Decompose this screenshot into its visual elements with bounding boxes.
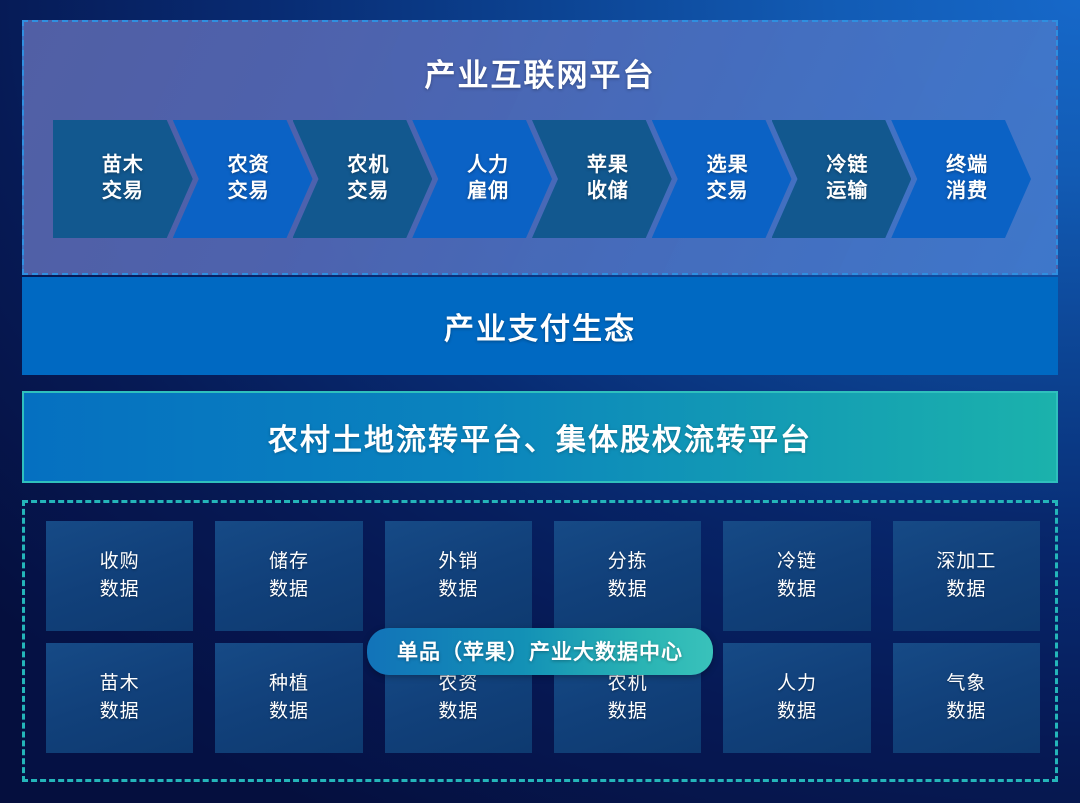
chevron-label-line2: 运输 [826, 179, 868, 205]
data-cell-label-line1: 冷链 [777, 548, 817, 576]
chevron-step-label: 冷链运输 [814, 153, 868, 204]
data-cell-label: 种植数据 [269, 670, 309, 725]
data-cell[interactable]: 冷链数据 [723, 521, 870, 631]
chevron-label-line1: 冷链 [826, 153, 868, 179]
value-chain-chevron-band: 苗木交易农资交易农机交易人力雇佣苹果收储选果交易冷链运输终端消费 [53, 120, 1031, 238]
industrial-internet-platform-panel: 产业互联网平台 苗木交易农资交易农机交易人力雇佣苹果收储选果交易冷链运输终端消费 [22, 20, 1058, 275]
data-cell-label-line2: 数据 [777, 698, 817, 726]
data-cell[interactable]: 苗木数据 [46, 643, 193, 753]
chevron-label-line2: 交易 [347, 179, 389, 205]
chevron-label-line1: 终端 [946, 153, 988, 179]
data-cell-label: 储存数据 [269, 548, 309, 603]
data-cell-label-line2: 数据 [438, 576, 478, 604]
chevron-label-line1: 苗木 [102, 153, 144, 179]
data-cell-label-line2: 数据 [608, 698, 648, 726]
chevron-step-label: 苗木交易 [102, 153, 144, 204]
data-cell-label-line1: 苗木 [100, 670, 140, 698]
data-cell-label: 分拣数据 [608, 548, 648, 603]
data-cell[interactable]: 种植数据 [215, 643, 362, 753]
data-cell[interactable]: 深加工数据 [893, 521, 1040, 631]
chevron-label-line2: 交易 [102, 179, 144, 205]
chevron-label-line2: 交易 [707, 179, 749, 205]
data-cell-label-line2: 数据 [946, 698, 986, 726]
data-cell-label-line1: 储存 [269, 548, 309, 576]
data-cell-label-line2: 数据 [936, 576, 996, 604]
data-cell-label-line2: 数据 [100, 698, 140, 726]
data-cell-label-line2: 数据 [438, 698, 478, 726]
data-cell-label: 深加工数据 [936, 548, 996, 603]
data-cell-label: 苗木数据 [100, 670, 140, 725]
big-data-center-badge-label: 单品（苹果）产业大数据中心 [397, 641, 683, 664]
big-data-center-section: 收购数据储存数据外销数据分拣数据冷链数据深加工数据苗木数据种植数据农资数据农机数… [22, 500, 1058, 782]
chevron-label-line1: 农机 [347, 153, 389, 179]
data-cell-label-line2: 数据 [777, 576, 817, 604]
data-cell[interactable]: 储存数据 [215, 521, 362, 631]
data-cell[interactable]: 分拣数据 [554, 521, 701, 631]
chevron-step-label: 苹果收储 [575, 153, 629, 204]
chevron-label-line1: 农资 [228, 153, 270, 179]
data-cell-label: 冷链数据 [777, 548, 817, 603]
chevron-step-2[interactable]: 农资交易 [173, 120, 313, 238]
big-data-center-badge: 单品（苹果）产业大数据中心 [367, 628, 713, 675]
data-cell-label-line1: 种植 [269, 670, 309, 698]
chevron-label-line1: 人力 [467, 153, 509, 179]
chevron-step-7[interactable]: 冷链运输 [772, 120, 912, 238]
chevron-label-line1: 苹果 [587, 153, 629, 179]
data-cell-label: 农资数据 [438, 670, 478, 725]
data-cell[interactable]: 收购数据 [46, 521, 193, 631]
data-cell[interactable]: 气象数据 [893, 643, 1040, 753]
data-cell-label: 农机数据 [608, 670, 648, 725]
chevron-step-3[interactable]: 农机交易 [293, 120, 433, 238]
chevron-step-label: 终端消费 [934, 153, 988, 204]
chevron-label-line2: 交易 [228, 179, 270, 205]
chevron-label-line2: 雇佣 [467, 179, 509, 205]
data-cell-label-line1: 深加工 [936, 548, 996, 576]
data-cell-label-line1: 气象 [946, 670, 986, 698]
chevron-label-line2: 收储 [587, 179, 629, 205]
chevron-step-label: 农机交易 [335, 153, 389, 204]
data-cell-label-line1: 人力 [777, 670, 817, 698]
payment-ecosystem-bar: 产业支付生态 [22, 277, 1058, 375]
data-cell-label-line1: 收购 [100, 548, 140, 576]
chevron-step-5[interactable]: 苹果收储 [532, 120, 672, 238]
data-cell[interactable]: 外销数据 [385, 521, 532, 631]
data-cell-label-line1: 外销 [438, 548, 478, 576]
data-cell-label: 气象数据 [946, 670, 986, 725]
land-transfer-platform-bar: 农村土地流转平台、集体股权流转平台 [22, 391, 1058, 483]
chevron-step-8[interactable]: 终端消费 [891, 120, 1031, 238]
data-cell-label-line2: 数据 [269, 576, 309, 604]
chevron-step-1[interactable]: 苗木交易 [53, 120, 193, 238]
data-cell-label: 人力数据 [777, 670, 817, 725]
chevron-label-line1: 选果 [707, 153, 749, 179]
data-cell-label-line2: 数据 [608, 576, 648, 604]
chevron-step-label: 人力雇佣 [455, 153, 509, 204]
chevron-label-line2: 消费 [946, 179, 988, 205]
chevron-step-4[interactable]: 人力雇佣 [412, 120, 552, 238]
chevron-step-label: 选果交易 [695, 153, 749, 204]
chevron-step-6[interactable]: 选果交易 [652, 120, 792, 238]
data-cell-label-line2: 数据 [100, 576, 140, 604]
data-cell-label: 外销数据 [438, 548, 478, 603]
data-cell-label-line1: 分拣 [608, 548, 648, 576]
data-cell-label: 收购数据 [100, 548, 140, 603]
platform-panel-title: 产业互联网平台 [24, 22, 1056, 95]
chevron-step-label: 农资交易 [216, 153, 270, 204]
payment-ecosystem-label: 产业支付生态 [444, 304, 636, 348]
data-cell-label-line2: 数据 [269, 698, 309, 726]
land-transfer-platform-label: 农村土地流转平台、集体股权流转平台 [268, 415, 812, 459]
data-cell[interactable]: 人力数据 [723, 643, 870, 753]
